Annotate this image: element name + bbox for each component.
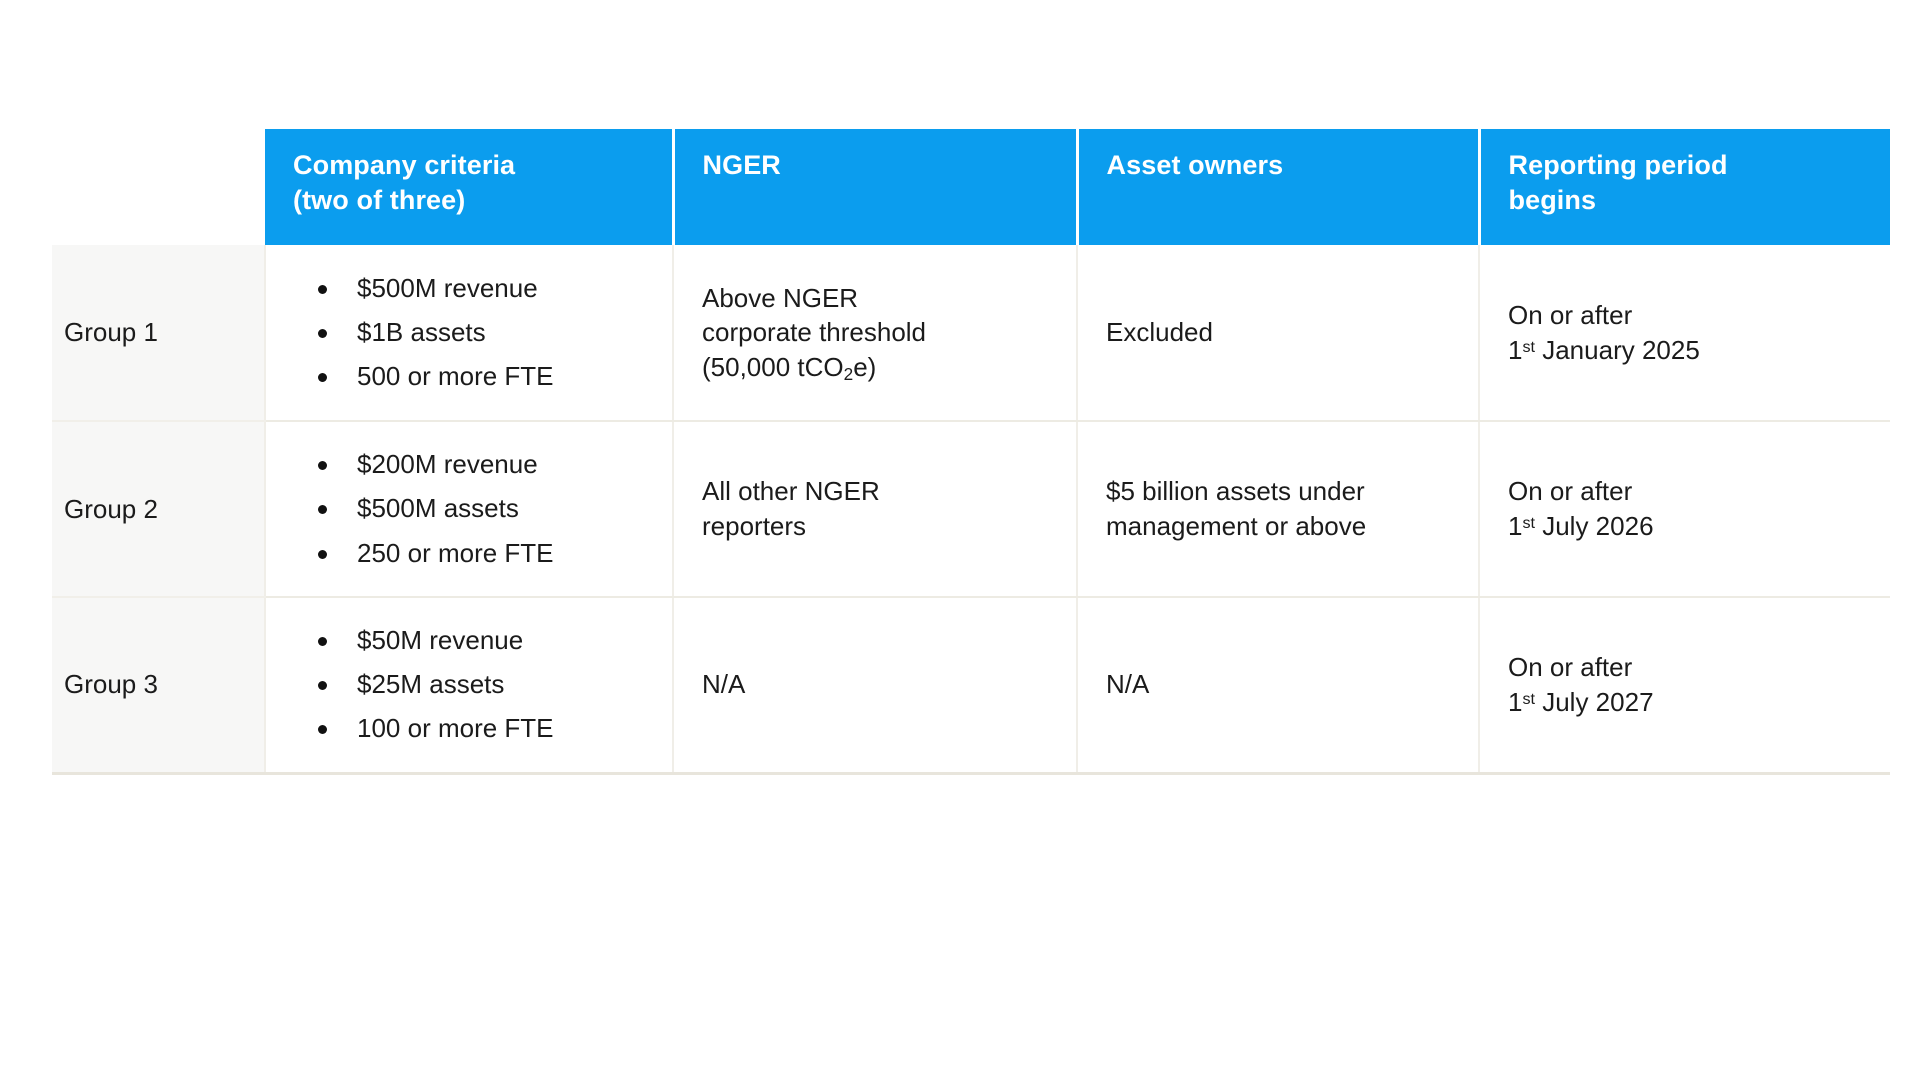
nger-wrapper: All other NGER reporters: [674, 474, 1076, 543]
criteria-wrapper: $500M revenue $1B assets 500 or more FTE: [266, 273, 672, 393]
table-row: Group 1 $500M revenue $1B assets 500 or …: [52, 245, 1890, 421]
asset-owners-text: N/A: [1078, 667, 1478, 702]
table-body: Group 1 $500M revenue $1B assets 500 or …: [52, 245, 1890, 773]
list-item: $25M assets: [304, 669, 646, 700]
header-nger-label: NGER: [703, 148, 1076, 183]
list-item: $50M revenue: [304, 625, 646, 656]
reporting-period-month-year: July 2027: [1535, 687, 1654, 717]
table-header-row: Company criteria (two of three) NGER Ass…: [52, 129, 1890, 245]
list-item: $500M revenue: [304, 273, 646, 304]
cell-reporting-period: On or after 1st January 2025: [1479, 245, 1890, 421]
reporting-criteria-table: Company criteria (two of three) NGER Ass…: [52, 129, 1890, 775]
nger-threshold-prefix: (50,000 tCO: [702, 352, 844, 382]
reporting-period-wrapper: On or after 1st July 2026: [1480, 474, 1890, 543]
reporting-period-line-2: 1st July 2026: [1508, 509, 1864, 544]
reporting-period-day: 1: [1508, 511, 1522, 541]
cell-asset-owners: Excluded: [1077, 245, 1479, 421]
header-cell-asset-owners: Asset owners: [1077, 129, 1479, 245]
header-reporting-period-line1: Reporting period: [1509, 148, 1891, 183]
criteria-wrapper: $50M revenue $25M assets 100 or more FTE: [266, 625, 672, 745]
table-row: Group 2 $200M revenue $500M assets 250 o…: [52, 421, 1890, 597]
reporting-period-wrapper: On or after 1st January 2025: [1480, 298, 1890, 367]
reporting-period-line-2: 1st July 2027: [1508, 685, 1864, 720]
criteria-list: $200M revenue $500M assets 250 or more F…: [294, 449, 646, 569]
cell-group-name: Group 1: [52, 245, 265, 421]
header-company-criteria-line2: (two of three): [293, 183, 672, 218]
list-item: $500M assets: [304, 493, 646, 524]
criteria-table-container: Company criteria (two of three) NGER Ass…: [52, 129, 1890, 775]
nger-line-2: corporate threshold: [702, 315, 1050, 350]
reporting-period-wrapper: On or after 1st July 2027: [1480, 650, 1890, 719]
reporting-period-day: 1: [1508, 335, 1522, 365]
list-item: $1B assets: [304, 317, 646, 348]
header-reporting-period-line2: begins: [1509, 183, 1891, 218]
nger-line-1: All other NGER: [702, 474, 1050, 509]
table-header: Company criteria (two of three) NGER Ass…: [52, 129, 1890, 245]
cell-group-name: Group 3: [52, 597, 265, 773]
cell-company-criteria: $200M revenue $500M assets 250 or more F…: [265, 421, 673, 597]
header-cell-nger: NGER: [673, 129, 1077, 245]
cell-company-criteria: $50M revenue $25M assets 100 or more FTE: [265, 597, 673, 773]
nger-line-3: (50,000 tCO2e): [702, 350, 1050, 385]
asset-owners-text: Excluded: [1078, 315, 1478, 350]
criteria-list: $50M revenue $25M assets 100 or more FTE: [294, 625, 646, 745]
header-asset-owners-label: Asset owners: [1107, 148, 1478, 183]
cell-nger: All other NGER reporters: [673, 421, 1077, 597]
reporting-period-ordinal: st: [1522, 338, 1535, 356]
reporting-period-month-year: July 2026: [1535, 511, 1654, 541]
reporting-period-line-2: 1st January 2025: [1508, 333, 1864, 368]
cell-reporting-period: On or after 1st July 2026: [1479, 421, 1890, 597]
reporting-period-line-1: On or after: [1508, 650, 1864, 685]
nger-wrapper: Above NGER corporate threshold (50,000 t…: [674, 281, 1076, 385]
cell-asset-owners: $5 billion assets under management or ab…: [1077, 421, 1479, 597]
cell-nger: N/A: [673, 597, 1077, 773]
nger-line-1: N/A: [702, 667, 1050, 702]
criteria-wrapper: $200M revenue $500M assets 250 or more F…: [266, 449, 672, 569]
criteria-list: $500M revenue $1B assets 500 or more FTE: [294, 273, 646, 393]
reporting-period-day: 1: [1508, 687, 1522, 717]
header-cell-company-criteria: Company criteria (two of three): [265, 129, 673, 245]
reporting-period-line-1: On or after: [1508, 474, 1864, 509]
nger-wrapper: N/A: [674, 667, 1076, 702]
reporting-period-ordinal: st: [1522, 690, 1535, 708]
cell-asset-owners: N/A: [1077, 597, 1479, 773]
header-cell-group-blank: [52, 129, 265, 245]
cell-nger: Above NGER corporate threshold (50,000 t…: [673, 245, 1077, 421]
nger-threshold-suffix: e): [853, 352, 876, 382]
reporting-period-ordinal: st: [1522, 514, 1535, 532]
list-item: 500 or more FTE: [304, 361, 646, 392]
cell-group-name: Group 2: [52, 421, 265, 597]
nger-line-2: reporters: [702, 509, 1050, 544]
reporting-period-month-year: January 2025: [1535, 335, 1700, 365]
list-item: 100 or more FTE: [304, 713, 646, 744]
cell-company-criteria: $500M revenue $1B assets 500 or more FTE: [265, 245, 673, 421]
reporting-period-line-1: On or after: [1508, 298, 1864, 333]
list-item: $200M revenue: [304, 449, 646, 480]
slide-canvas: Company criteria (two of three) NGER Ass…: [0, 0, 1920, 1080]
list-item: 250 or more FTE: [304, 538, 646, 569]
nger-line-1: Above NGER: [702, 281, 1050, 316]
cell-reporting-period: On or after 1st July 2027: [1479, 597, 1890, 773]
asset-owners-text: $5 billion assets under management or ab…: [1078, 474, 1478, 543]
table-row: Group 3 $50M revenue $25M assets 100 or …: [52, 597, 1890, 773]
header-cell-reporting-period: Reporting period begins: [1479, 129, 1890, 245]
nger-co2-subscript: 2: [844, 364, 854, 384]
header-company-criteria-line1: Company criteria: [293, 148, 672, 183]
